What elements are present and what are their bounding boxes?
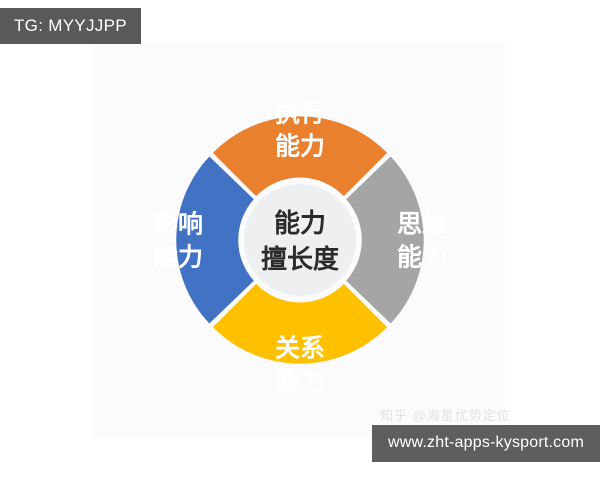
hub-label-line1: 能力 [274, 208, 326, 238]
donut-svg: 执行 能力 思维 能力 关系 能力 影响 能力 能力 擅长度 [0, 0, 600, 480]
segment-label-thinking-line1: 思维 [397, 210, 447, 239]
capability-donut-chart: 执行 能力 思维 能力 关系 能力 影响 能力 能力 擅长度 [0, 0, 600, 480]
segment-label-relationship-line2: 能力 [275, 367, 325, 396]
segment-label-relationship-line1: 关系 [275, 335, 325, 363]
hub-label-line2: 擅长度 [261, 244, 339, 274]
segment-label-execution-line1: 执行 [275, 100, 325, 128]
site-url-watermark: www.zht-apps-kysport.com [372, 425, 600, 462]
segment-label-thinking-line2: 能力 [397, 243, 447, 272]
segment-label-influence-line1: 影响 [153, 210, 203, 239]
telegram-tag-badge: TG: MYYJJPP [0, 8, 141, 44]
segment-label-influence-line2: 能力 [153, 243, 203, 272]
segment-label-execution-line2: 能力 [275, 132, 325, 161]
donut-hub [244, 184, 356, 296]
segment-label-relationship: 关系 能力 [275, 335, 325, 396]
